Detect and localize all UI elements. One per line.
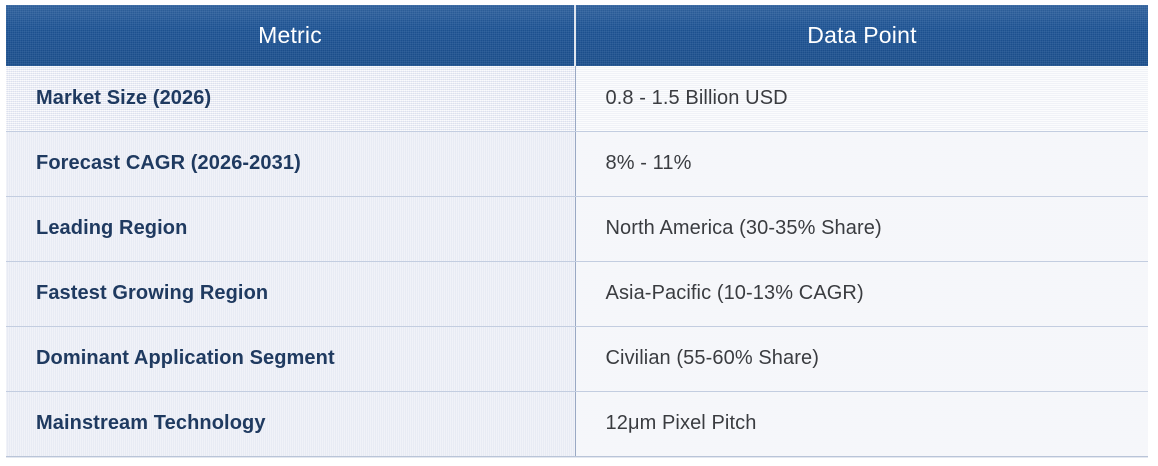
data-point-value: 8% - 11%	[606, 152, 1149, 175]
table-bottom-edge	[6, 457, 1148, 458]
data-point-cell: 12μm Pixel Pitch	[575, 391, 1148, 456]
column-header-metric-label: Metric	[6, 24, 574, 47]
data-point-value: North America (30-35% Share)	[606, 217, 1149, 240]
metric-cell: Leading Region	[6, 196, 575, 261]
market-summary-table: Metric Data Point Market Size (2026) 0.8…	[6, 5, 1148, 457]
metric-cell: Market Size (2026)	[6, 66, 575, 131]
data-point-cell: Civilian (55-60% Share)	[575, 326, 1148, 391]
data-point-cell: 0.8 - 1.5 Billion USD	[575, 66, 1148, 131]
table-header: Metric Data Point	[6, 5, 1148, 66]
table-row: Leading Region North America (30-35% Sha…	[6, 196, 1148, 261]
metric-label: Leading Region	[36, 217, 575, 240]
metric-label: Mainstream Technology	[36, 412, 575, 435]
column-header-metric: Metric	[6, 5, 575, 66]
table-header-row: Metric Data Point	[6, 5, 1148, 66]
table-row: Market Size (2026) 0.8 - 1.5 Billion USD	[6, 66, 1148, 131]
table-body: Market Size (2026) 0.8 - 1.5 Billion USD…	[6, 66, 1148, 456]
data-point-value: Civilian (55-60% Share)	[606, 347, 1149, 370]
data-point-value: 12μm Pixel Pitch	[606, 412, 1149, 435]
metric-cell: Dominant Application Segment	[6, 326, 575, 391]
table-row: Forecast CAGR (2026-2031) 8% - 11%	[6, 131, 1148, 196]
metric-cell: Fastest Growing Region	[6, 261, 575, 326]
data-point-value: Asia-Pacific (10-13% CAGR)	[606, 282, 1149, 305]
column-header-data-point: Data Point	[575, 5, 1148, 66]
metric-cell: Forecast CAGR (2026-2031)	[6, 131, 575, 196]
metric-cell: Mainstream Technology	[6, 391, 575, 456]
table-row: Mainstream Technology 12μm Pixel Pitch	[6, 391, 1148, 456]
data-point-cell: North America (30-35% Share)	[575, 196, 1148, 261]
table-row: Dominant Application Segment Civilian (5…	[6, 326, 1148, 391]
metric-label: Fastest Growing Region	[36, 282, 575, 305]
data-point-value: 0.8 - 1.5 Billion USD	[606, 87, 1149, 110]
metric-label: Dominant Application Segment	[36, 347, 575, 370]
data-point-cell: Asia-Pacific (10-13% CAGR)	[575, 261, 1148, 326]
data-point-cell: 8% - 11%	[575, 131, 1148, 196]
column-header-data-point-label: Data Point	[576, 24, 1148, 47]
summary-table-container: Metric Data Point Market Size (2026) 0.8…	[6, 5, 1148, 457]
metric-label: Forecast CAGR (2026-2031)	[36, 152, 575, 175]
table-row: Fastest Growing Region Asia-Pacific (10-…	[6, 261, 1148, 326]
metric-label: Market Size (2026)	[36, 87, 575, 110]
